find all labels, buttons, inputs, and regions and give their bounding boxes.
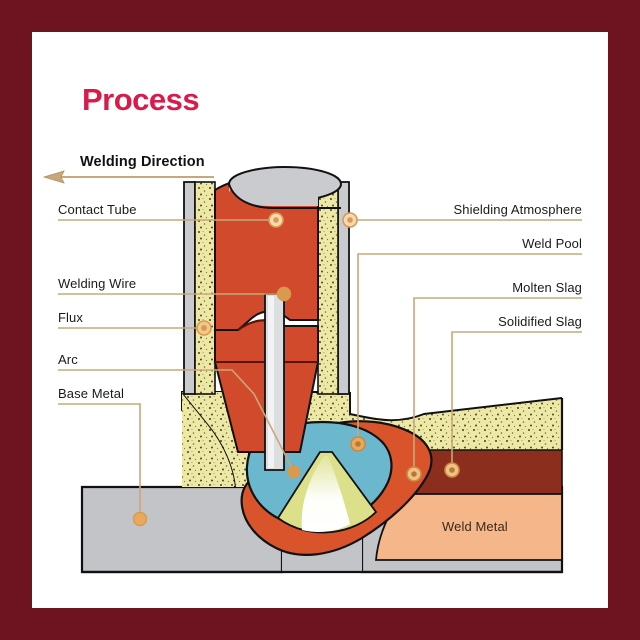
- label-welding-wire: Welding Wire: [58, 276, 136, 291]
- label-solidified-slag: Solidified Slag: [498, 314, 582, 329]
- diagram-canvas: Process Welding Direction: [32, 32, 608, 608]
- label-arc: Arc: [58, 352, 78, 367]
- label-contact-tube: Contact Tube: [58, 202, 137, 217]
- welding-wire-shape: [265, 294, 284, 470]
- poster-frame: Process Welding Direction: [0, 0, 640, 640]
- label-shielding-atmosphere: Shielding Atmosphere: [454, 202, 582, 217]
- label-flux: Flux: [58, 310, 83, 325]
- label-weld-metal: Weld Metal: [442, 519, 508, 534]
- label-molten-slag: Molten Slag: [512, 280, 582, 295]
- label-base-metal: Base Metal: [58, 386, 124, 401]
- label-weld-pool: Weld Pool: [522, 236, 582, 251]
